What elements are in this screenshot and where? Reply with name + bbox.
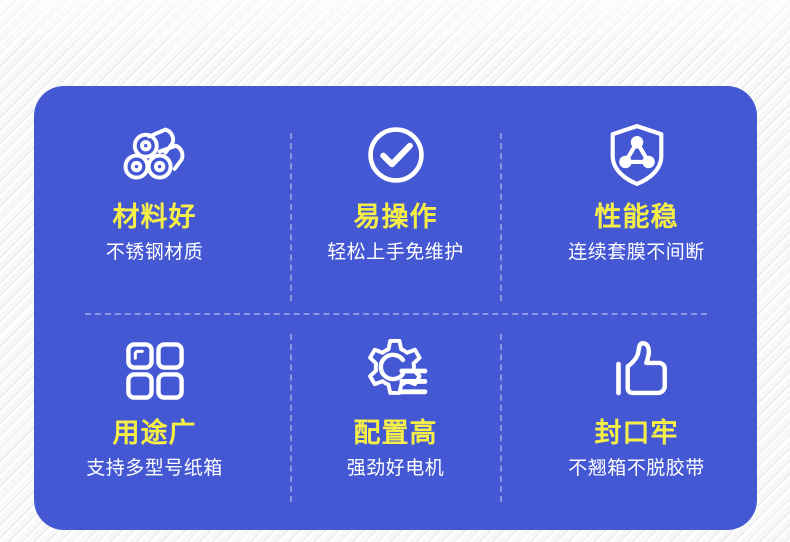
feature-subtitle: 不翘箱不脱胶带 (568, 457, 705, 480)
stacked-pipes-icon (118, 118, 192, 192)
check-circle-icon (359, 118, 433, 192)
feature-cell-operation: 易操作 轻松上手免维护 (275, 86, 516, 308)
feature-title: 用途广 (113, 418, 197, 449)
promo-banner: 材料好 不锈钢材质 易操作 轻松上手免维护 (0, 0, 790, 542)
feature-cell-stability: 性能稳 连续套膜不间断 (516, 86, 757, 308)
feature-subtitle: 强劲好电机 (347, 457, 445, 480)
feature-subtitle: 连续套膜不间断 (568, 241, 705, 264)
feature-title: 材料好 (113, 202, 197, 233)
feature-cell-material: 材料好 不锈钢材质 (34, 86, 275, 308)
feature-cell-usage: 用途广 支持多型号纸箱 (34, 308, 275, 530)
feature-cell-sealing: 封口牢 不翘箱不脱胶带 (516, 308, 757, 530)
feature-cell-configuration: 配置高 强劲好电机 (275, 308, 516, 530)
grid-four-squares-icon (118, 334, 192, 408)
thumbs-up-icon (600, 334, 674, 408)
feature-title: 易操作 (354, 202, 438, 233)
feature-title: 性能稳 (595, 202, 679, 233)
feature-title: 封口牢 (595, 418, 679, 449)
gear-settings-icon (359, 334, 433, 408)
feature-panel: 材料好 不锈钢材质 易操作 轻松上手免维护 (34, 86, 757, 530)
feature-subtitle: 不锈钢材质 (106, 241, 204, 264)
shield-network-icon (600, 118, 674, 192)
feature-grid: 材料好 不锈钢材质 易操作 轻松上手免维护 (34, 86, 757, 530)
feature-title: 配置高 (354, 418, 438, 449)
background-sheen (0, 0, 790, 86)
feature-subtitle: 轻松上手免维护 (327, 241, 464, 264)
feature-subtitle: 支持多型号纸箱 (86, 457, 223, 480)
